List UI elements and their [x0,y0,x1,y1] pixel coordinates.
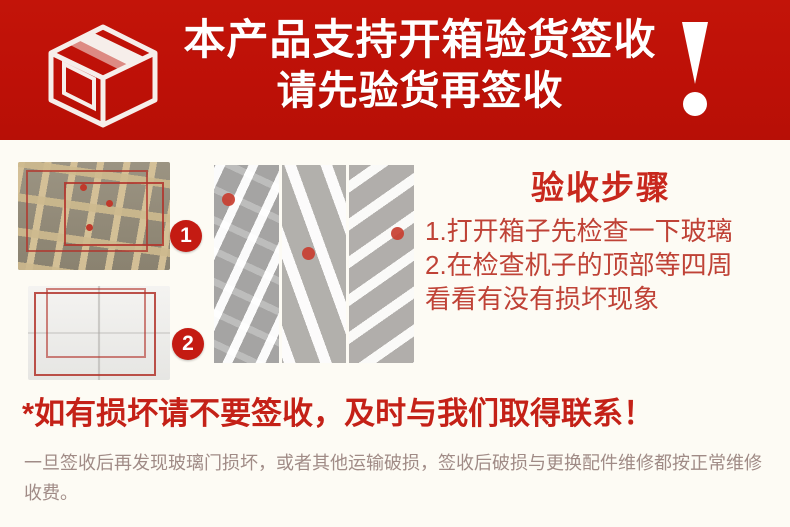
steps-list: 1.打开箱子先检查一下玻璃 2.在检查机子的顶部等四周 看看有没有损坏现象 [425,214,777,316]
crate-detail-photo-2 [282,165,347,363]
inspection-steps-block: 验收步骤 1.打开箱子先检查一下玻璃 2.在检查机子的顶部等四周 看看有没有损坏… [425,168,777,332]
damage-marker-dot [222,193,235,206]
damage-point-dot [106,200,113,207]
steps-title: 验收步骤 [425,168,777,208]
damage-point-dot [86,224,93,231]
cabinet-top-marker [46,288,146,358]
banner-title-block: 本产品支持开箱验货签收 请先验货再签收 [170,14,670,116]
inspection-photo-grid [214,165,414,363]
bottom-warning-section: *如有损坏请不要签收，及时与我们取得联系！ 一旦签收后再发现玻璃门损坏，或者其他… [0,390,790,527]
header-banner: 本产品支持开箱验货签收 请先验货再签收 [0,0,790,140]
crate-detail-photo-3 [349,165,414,363]
package-box-icon [42,20,164,130]
photo-marker-1: 1 [170,220,202,252]
exclamation-dot [683,92,707,116]
photo-texture [282,165,347,363]
warning-headline: *如有损坏请不要签收，及时与我们取得联系！ [22,394,654,434]
glass-cabinet-photo [28,286,170,380]
crate-inner-marker [64,182,164,246]
warning-note: 一旦签收后再发现玻璃门损坏，或者其他运输破损，签收后破损与更换配件维修都按正常维… [24,448,768,508]
banner-title-line1: 本产品支持开箱验货签收 [170,14,670,66]
photo-texture [349,165,414,363]
photo-marker-2: 2 [172,328,204,360]
step-item-1: 1.打开箱子先检查一下玻璃 [425,214,777,248]
damage-marker-dot [302,247,315,260]
middle-section: 1 2 验收步骤 1.打开箱子先检查一下玻璃 2.在检查机子的顶部等四周 [0,140,790,385]
wooden-crate-photo [18,162,170,270]
banner-title-line2: 请先验货再签收 [170,66,670,116]
crate-detail-photo-1 [214,165,279,363]
damage-point-dot [80,184,87,191]
exclamation-stem [682,22,708,84]
step-item-2: 2.在检查机子的顶部等四周 [425,248,777,282]
step-item-2-continued: 看看有没有损坏现象 [425,282,777,316]
left-photo-column: 1 2 [14,162,210,380]
exclamation-mark-icon [668,18,728,122]
promo-banner-page: 本产品支持开箱验货签收 请先验货再签收 [0,0,790,527]
